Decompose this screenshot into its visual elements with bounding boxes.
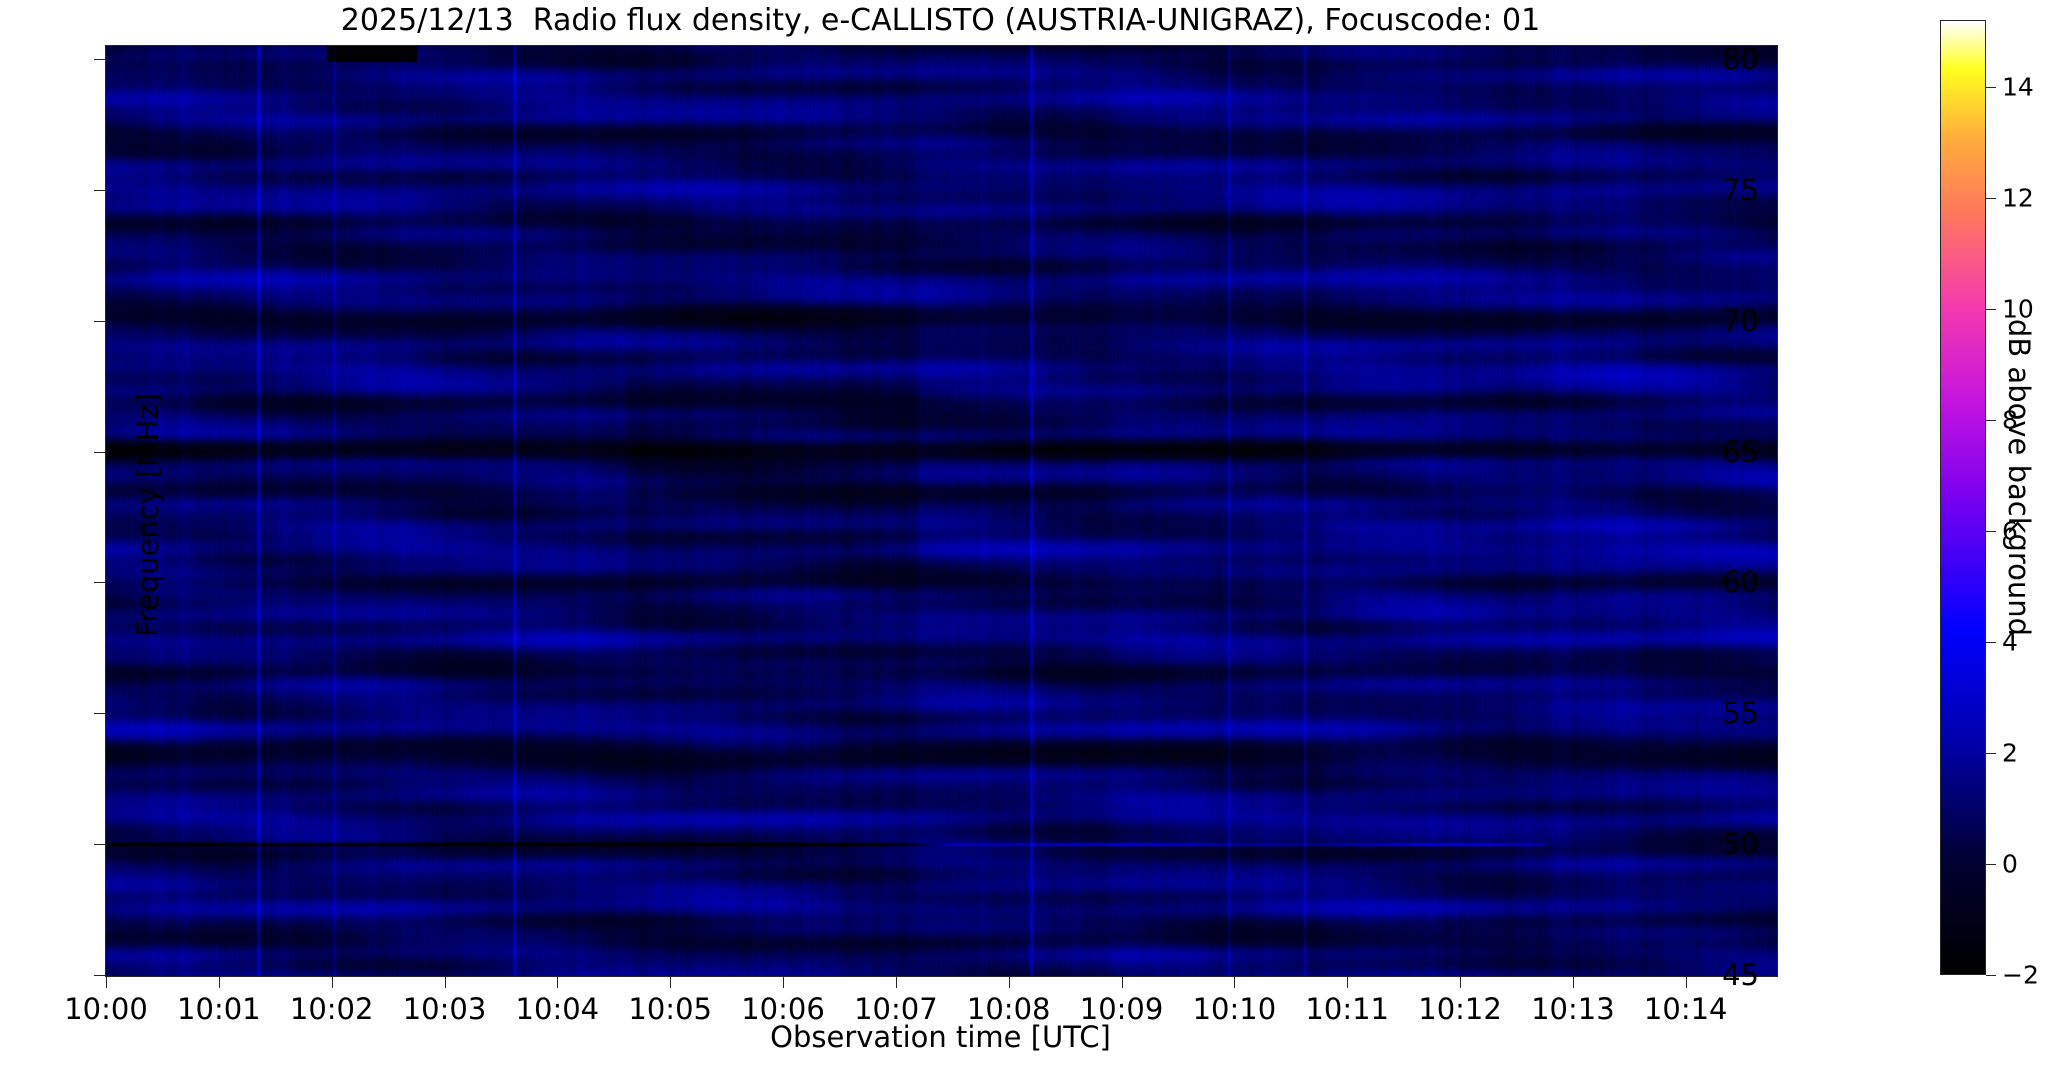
x-tick-mark [1573, 976, 1574, 988]
x-tick-mark [332, 976, 333, 988]
x-tick-mark [1009, 976, 1010, 988]
y-tick-label: 60 [1679, 565, 1759, 599]
x-tick-mark [670, 976, 671, 988]
x-tick-mark [445, 976, 446, 988]
colorbar-tick-mark [1986, 420, 1996, 421]
y-tick-label: 75 [1679, 173, 1759, 207]
y-tick-label: 70 [1679, 304, 1759, 338]
colorbar-tick-mark [1986, 309, 1996, 310]
x-tick-mark [1347, 976, 1348, 988]
y-axis-label: Frequency [MHz] [131, 165, 165, 865]
colorbar-tick-mark [1986, 198, 1996, 199]
page-title: 2025/12/13 Radio flux density, e-CALLIST… [105, 2, 1776, 40]
spectrogram-axes[interactable]: Frequency [MHz] 4550556065707580 10:0010… [105, 45, 1778, 977]
colorbar-tick-mark [1986, 753, 1996, 754]
x-tick-mark [219, 976, 220, 988]
x-tick-mark [1460, 976, 1461, 988]
colorbar-label: dB above background [1996, 0, 2042, 955]
y-tick-mark [94, 582, 106, 583]
x-tick-mark [106, 976, 107, 988]
y-tick-label: 45 [1679, 958, 1759, 992]
y-tick-label: 80 [1679, 42, 1759, 76]
x-tick-mark [1686, 976, 1687, 988]
y-tick-label: 55 [1679, 696, 1759, 730]
y-tick-mark [94, 190, 106, 191]
y-tick-mark [94, 844, 106, 845]
colorbar-tick-mark [1986, 975, 1996, 976]
x-tick-mark [1234, 976, 1235, 988]
colorbar[interactable]: −202468101214 [1940, 20, 1986, 975]
x-tick-mark [1122, 976, 1123, 988]
colorbar-tick-mark [1986, 864, 1996, 865]
colorbar-tick-mark [1986, 87, 1996, 88]
y-tick-mark [94, 452, 106, 453]
colorbar-gradient [1940, 20, 1986, 975]
spectrogram-image[interactable] [106, 46, 1777, 976]
x-tick-mark [896, 976, 897, 988]
x-axis-label: Observation time [UTC] [105, 1020, 1776, 1054]
colorbar-tick-mark [1986, 642, 1996, 643]
y-tick-mark [94, 975, 106, 976]
y-tick-mark [94, 321, 106, 322]
y-tick-label: 50 [1679, 827, 1759, 861]
x-tick-mark [783, 976, 784, 988]
x-tick-mark [557, 976, 558, 988]
y-tick-mark [94, 713, 106, 714]
y-tick-label: 65 [1679, 435, 1759, 469]
y-tick-mark [94, 59, 106, 60]
colorbar-tick-label: −2 [2002, 961, 2039, 990]
colorbar-tick-mark [1986, 531, 1996, 532]
spectrogram-figure: 2025/12/13 Radio flux density, e-CALLIST… [0, 0, 2047, 1067]
